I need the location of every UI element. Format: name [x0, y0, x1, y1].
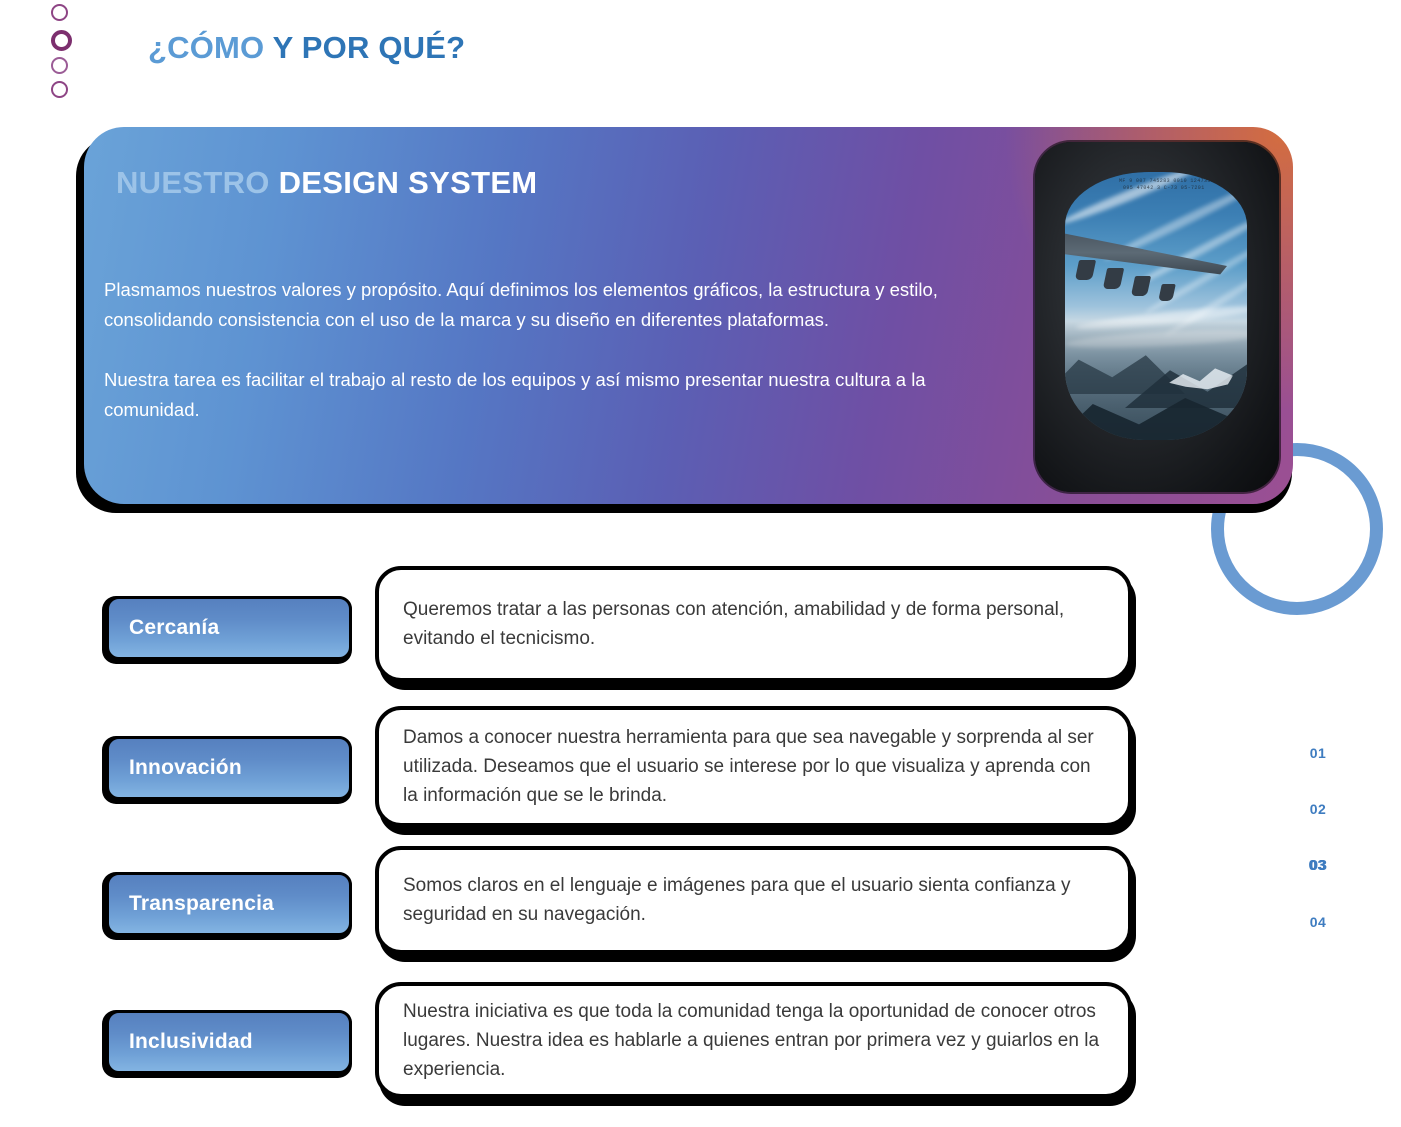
value-pill-label: Inclusividad — [129, 1030, 253, 1054]
decor-dots-group — [51, 4, 75, 94]
value-description-box-inclusividad: Nuestra iniciativa es que toda la comuni… — [375, 982, 1132, 1098]
window-glass: MF 9 007 745283 0010 124733299 095 47042… — [1065, 172, 1247, 440]
window-etched-text-line-1: MF 9 007 745283 0010 124733299 — [1119, 178, 1221, 185]
value-description-box-cercania: Queremos tratar a las personas con atenc… — [375, 566, 1132, 682]
page-title-light: ¿CÓMO — [148, 30, 264, 65]
pagination-item-03[interactable]: 03 — [1296, 857, 1340, 874]
value-pill-label: Cercanía — [129, 616, 219, 640]
value-pill-transparencia[interactable]: Transparencia — [106, 872, 352, 936]
hero-paragraph-2: Nuestra tarea es facilitar el trabajo al… — [104, 365, 1024, 425]
page-title: ¿CÓMO Y POR QUÉ? — [148, 30, 465, 66]
value-description-text: Queremos tratar a las personas con atenc… — [379, 595, 1128, 653]
value-description-text: Nuestra iniciativa es que toda la comuni… — [379, 997, 1128, 1084]
hero-paragraph-gap — [104, 335, 1024, 365]
hero-card: NUESTRO DESIGN SYSTEM Plasmamos nuestros… — [84, 127, 1293, 504]
hero-title: NUESTRO DESIGN SYSTEM — [116, 165, 537, 201]
hero-title-light: NUESTRO — [116, 165, 270, 200]
value-description-box-innovacion: Damos a conocer nuestra herramienta para… — [375, 706, 1132, 827]
value-pill-inclusividad[interactable]: Inclusividad — [106, 1010, 352, 1074]
pagination: 01 02 03 04 — [1296, 745, 1340, 970]
hero-paragraph-1: Plasmamos nuestros valores y propósito. … — [104, 275, 1024, 335]
decor-dot-3 — [51, 57, 68, 74]
value-pill-innovacion[interactable]: Innovación — [106, 736, 352, 800]
value-pill-label: Transparencia — [129, 892, 274, 916]
value-description-box-transparencia: Somos claros en el lenguaje e imágenes p… — [375, 846, 1132, 954]
pagination-item-04[interactable]: 04 — [1296, 914, 1340, 930]
window-etched-text-line-2: 095 47042 3 C-73 05-7201 — [1123, 185, 1205, 192]
hero-body: Plasmamos nuestros valores y propósito. … — [104, 275, 1024, 425]
decor-dot-1 — [51, 4, 68, 21]
value-description-text: Damos a conocer nuestra herramienta para… — [379, 723, 1128, 810]
decor-dot-4 — [51, 81, 68, 98]
value-pill-cercania[interactable]: Cercanía — [106, 596, 352, 660]
value-description-text: Somos claros en el lenguaje e imágenes p… — [379, 871, 1128, 929]
value-pill-label: Innovación — [129, 756, 242, 780]
airplane-window-photo: MF 9 007 745283 0010 124733299 095 47042… — [1035, 142, 1279, 492]
pagination-item-02[interactable]: 02 — [1296, 801, 1340, 817]
hero-title-bold: DESIGN SYSTEM — [270, 165, 538, 200]
decor-dot-2 — [51, 30, 72, 51]
page-title-bold: Y POR QUÉ? — [264, 30, 465, 65]
pagination-item-01[interactable]: 01 — [1296, 745, 1340, 761]
